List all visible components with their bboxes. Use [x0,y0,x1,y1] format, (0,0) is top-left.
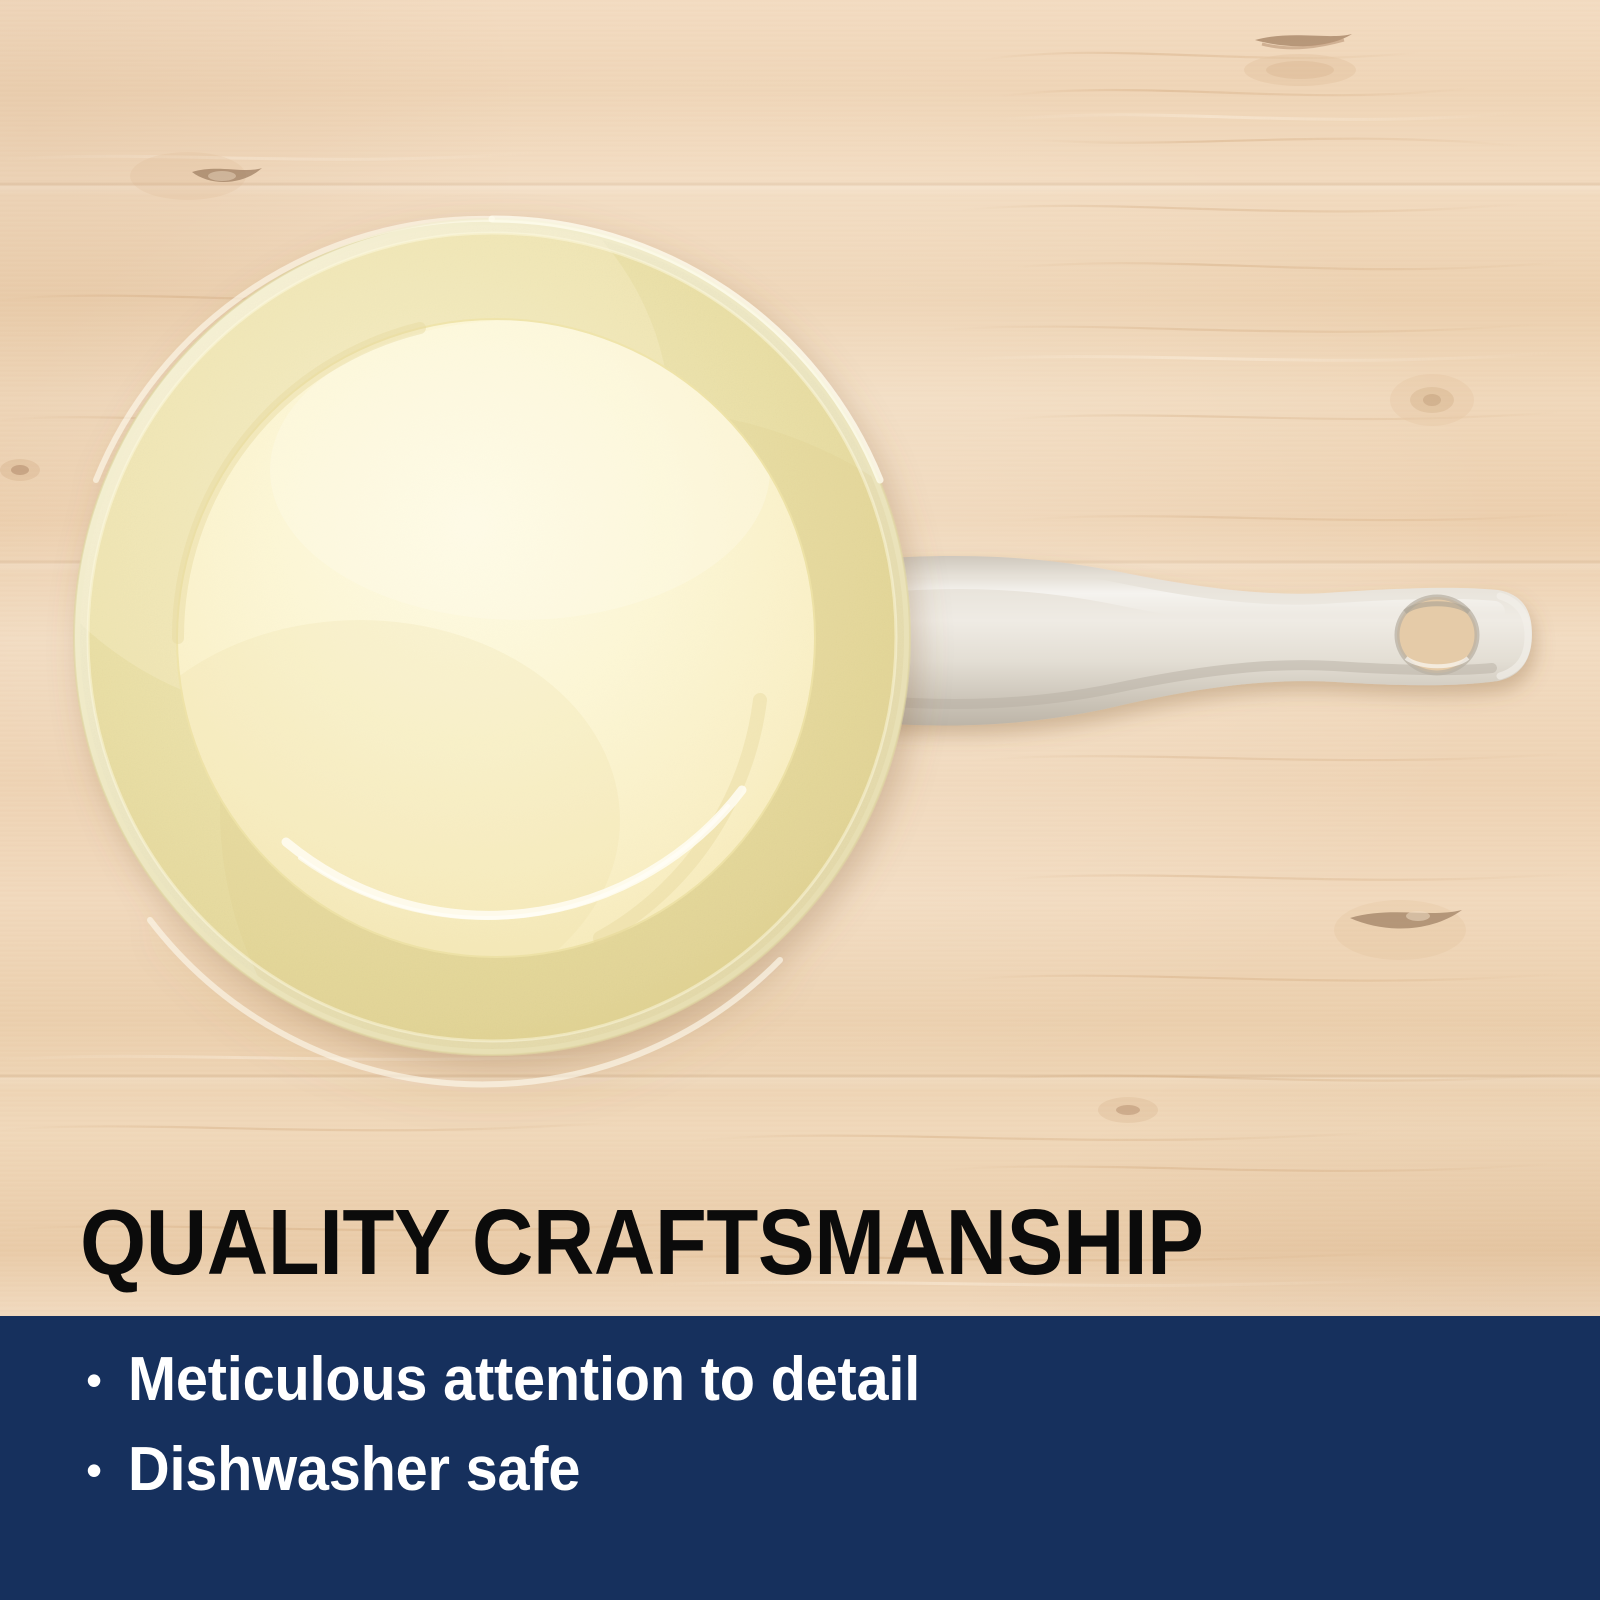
feature-bullet-list: • Meticulous attention to detail • Dishw… [86,1338,980,1517]
feature-banner: • Meticulous attention to detail • Dishw… [0,1316,1600,1600]
pan-body [0,120,1060,1210]
feature-bullet-label: Meticulous attention to detail [128,1338,920,1422]
product-feature-card: QUALITY CRAFTSMANSHIP • Meticulous atten… [0,0,1600,1600]
page-title: QUALITY CRAFTSMANSHIP [80,1196,1398,1289]
bullet-dot-icon: • [86,1447,128,1493]
bullet-dot-icon: • [86,1357,128,1403]
feature-bullet-label: Dishwasher safe [128,1428,580,1512]
list-item: • Meticulous attention to detail [86,1338,980,1422]
handle-hanging-hole [1397,597,1477,673]
list-item: • Dishwasher safe [86,1428,980,1512]
pan-handle [842,556,1532,725]
